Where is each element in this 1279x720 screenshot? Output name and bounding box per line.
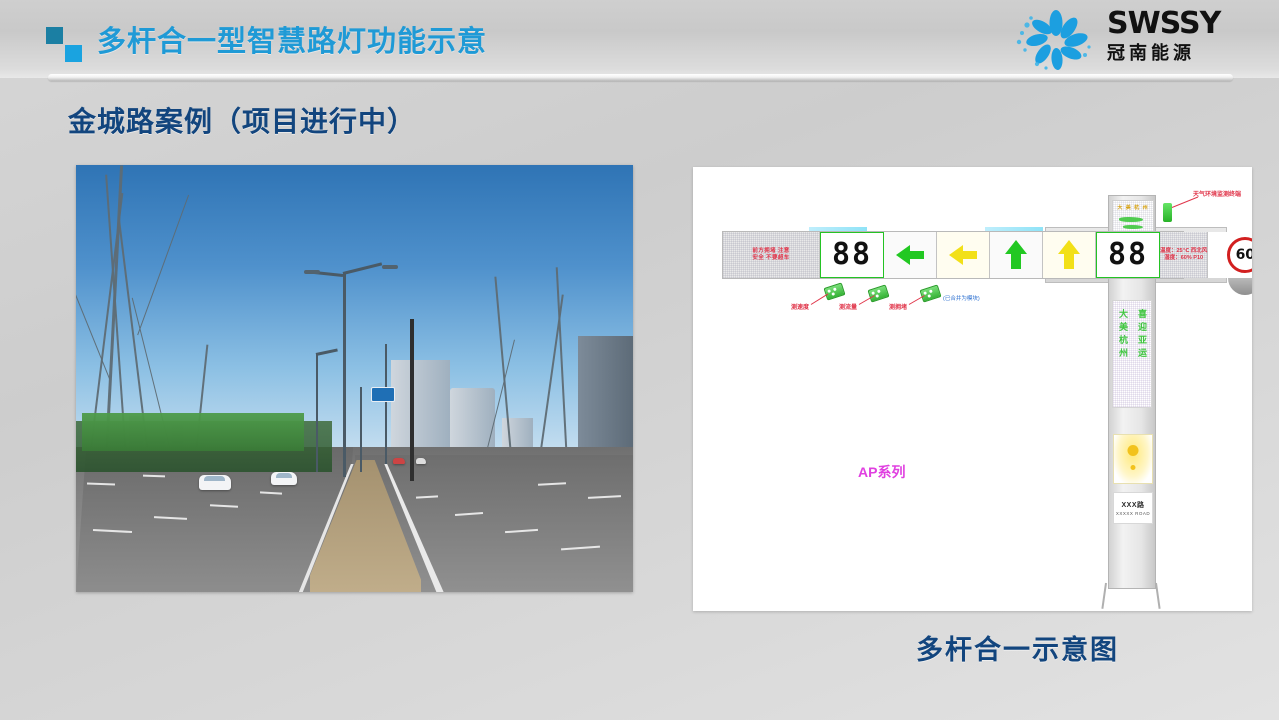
diagram-caption: 多杆合一示意图 [916,628,1119,667]
gantry-message-panel: 前方拥堵 注意 安全 不要超车 [723,232,820,278]
weather-sensor-icon [1163,203,1172,222]
slide-root: 多杆合一型智慧路灯功能示意 [0,0,1279,720]
street-name-plate: XXX路 XXXXX ROAD [1113,492,1153,524]
camera-label-2: 测流量 [839,302,857,311]
photo-blue-road-sign [371,387,395,402]
section-subtitle: 金城路案例（项目进行中） [68,100,416,140]
camera-leader-1 [811,293,828,304]
gantry-arrow-up-yellow [1043,232,1096,278]
gantry-speed-limit-cell: 60 [1208,232,1252,278]
gantry-left-countdown: 88 [820,232,884,278]
brand-name-cn: 冠南能源 [1107,42,1220,64]
pole-banner-text-left: 大美杭州 [1117,309,1128,407]
photo-green-trucks [82,413,305,451]
dome-camera-icon [1228,278,1252,295]
weather-sensor-label: 天气环境监测终端 [1193,189,1241,198]
page-title: 多杆合一型智慧路灯功能示意 [97,18,487,60]
photo-utility-pole [410,319,414,481]
brand-name-en: SWSSY [1107,8,1220,40]
gantry-message-line-1: 前方拥堵 注意 [752,248,789,255]
gantry-left-countdown-digits: 88 [832,240,872,270]
camera-module-note: (已合并为模块) [943,294,980,302]
ap-series-label: AP系列 [858,462,905,482]
company-logo: SWSSY 冠南能源 [1011,5,1261,75]
pole-vertical-banner: 大美杭州 喜迎亚运 [1112,300,1152,408]
gantry-sign-board: 前方拥堵 注意 安全 不要超车 88 [722,231,1184,279]
weather-sensor-leader-line [1172,197,1198,208]
photo-car-white-1 [199,475,231,490]
gantry-weather-panel: 温度：25℃ 西北风 湿度：60% P10 [1160,232,1208,278]
photo-car-white-2 [271,472,297,485]
gantry-arrow-left-green [884,232,937,278]
camera-label-1: 测速度 [791,302,809,311]
street-name-sub: XXXXX ROAD [1116,511,1150,516]
gantry-weather-line-2: 湿度：60% P10 [1164,255,1203,263]
pole-base [1101,583,1161,609]
camera-icon-3 [919,284,941,302]
title-bullet-icon [46,27,86,63]
photo-car-far-2 [416,458,426,464]
gantry-message-line-2: 安全 不要超车 [752,255,789,262]
speed-limit-sign: 60 [1227,237,1252,273]
gantry-right-countdown: 88 [1096,232,1160,278]
gantry-arrow-up-green [990,232,1043,278]
swssy-flower-icon [1011,9,1101,71]
pole-banner-text-right: 喜迎亚运 [1136,309,1147,407]
gantry-right-countdown-digits: 88 [1108,240,1148,270]
pole-diagram-panel: 浙通安全宣传 安全出行 大 美 杭 州 大美杭州 喜迎亚运 [693,167,1252,611]
street-name: XXX路 [1121,500,1144,510]
gantry-weather-line-1: 温度：25℃ 西北风 [1160,248,1207,256]
camera-icon-2 [867,284,889,302]
site-photo [76,165,633,592]
photo-car-far-1 [393,458,405,464]
header-divider [48,74,1233,81]
gantry-arrow-left-yellow [937,232,990,278]
slide-header: 多杆合一型智慧路灯功能示意 [0,0,1279,78]
camera-icon-1 [823,282,845,300]
pole-green-display-header: 大 美 杭 州 [1113,204,1153,211]
camera-label-3: 测拥堵 [889,302,907,311]
pole-info-screen [1113,434,1153,484]
